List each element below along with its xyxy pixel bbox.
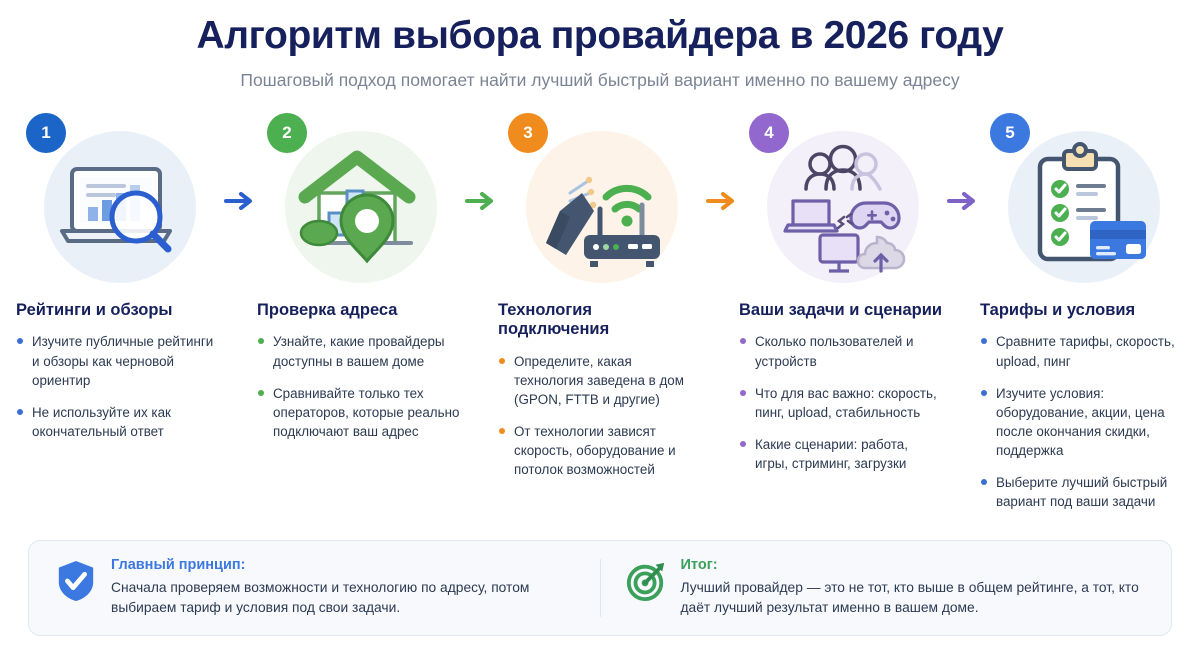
arrow-right-icon <box>947 191 977 211</box>
step-5-point: Изучите условия: оборудование, акции, це… <box>980 384 1184 460</box>
page-subtitle: Пошаговый подход помогает найти лучший б… <box>0 70 1200 91</box>
step-4-illustration: 4 <box>739 113 943 291</box>
step-3-point: От технологии зависят скорость, оборудов… <box>498 422 702 479</box>
arrow-right-icon <box>224 191 254 211</box>
step-5-number-badge: 5 <box>990 113 1030 153</box>
step-4-title: Ваши задачи и сценарии <box>739 301 943 321</box>
step-4-point: Какие сценарии: работа, игры, стриминг, … <box>739 435 943 473</box>
arrow-step-2-to-3 <box>461 113 498 211</box>
step-1-point: Изучите публичные рейтинги и обзоры как … <box>16 332 220 389</box>
step-4-point: Что для вас важно: скорость, пинг, uploa… <box>739 384 943 422</box>
step-card-2: 2 Проверка адреса Узнайте, какие провайд… <box>257 113 461 454</box>
step-5-point: Выберите лучший быстрый вариант под ваши… <box>980 473 1184 511</box>
arrow-step-1-to-2 <box>220 113 257 211</box>
footer-divider <box>600 559 601 617</box>
step-5-title: Тарифы и условия <box>980 301 1184 321</box>
step-2-illustration: 2 <box>257 113 461 291</box>
step-4-number-badge: 4 <box>749 113 789 153</box>
step-2-title: Проверка адреса <box>257 301 461 321</box>
step-5-point: Сравните тарифы, скорость, upload, пинг <box>980 332 1184 370</box>
step-2-point: Сравнивайте только тех операторов, котор… <box>257 384 461 441</box>
step-2-points: Узнайте, какие провайдеры доступны в ваш… <box>257 332 461 440</box>
step-4-points: Сколько пользователей и устройств Что дл… <box>739 332 943 472</box>
principle-text: Сначала проверяем возможности и технолог… <box>111 578 576 619</box>
page-title: Алгоритм выбора провайдера в 2026 году <box>0 14 1200 58</box>
step-3-title: Технология подключения <box>498 301 702 341</box>
users-devices-icon <box>767 131 919 283</box>
summary-panel: Главный принцип: Сначала проверяем возмо… <box>28 540 1172 636</box>
house-map-pin-icon <box>285 131 437 283</box>
result-block: Итог: Лучший провайдер — это не тот, кто… <box>619 557 1152 619</box>
step-1-illustration: 1 <box>16 113 220 291</box>
fiber-cable-router-wifi-icon <box>526 131 678 283</box>
step-3-illustration: 3 <box>498 113 702 291</box>
laptop-chart-magnifier-icon <box>44 131 196 283</box>
step-1-number-badge: 1 <box>26 113 66 153</box>
step-1-title: Рейтинги и обзоры <box>16 301 220 321</box>
step-5-illustration: 5 <box>980 113 1184 291</box>
header: Алгоритм выбора провайдера в 2026 году П… <box>0 0 1200 91</box>
infographic-page: Алгоритм выбора провайдера в 2026 году П… <box>0 0 1200 658</box>
arrow-step-4-to-5 <box>943 113 980 211</box>
step-2-number-badge: 2 <box>267 113 307 153</box>
step-1-points: Изучите публичные рейтинги и обзоры как … <box>16 332 220 440</box>
principle-label: Главный принцип: <box>111 557 576 573</box>
step-3-point: Определите, какая технология заведена в … <box>498 352 702 409</box>
arrow-right-icon <box>465 191 495 211</box>
step-2-point: Узнайте, какие провайдеры доступны в ваш… <box>257 332 461 370</box>
steps-row: 1 Рейтинги и обзоры Изучите публи <box>0 91 1200 524</box>
step-4-point: Сколько пользователей и устройств <box>739 332 943 370</box>
step-5-points: Сравните тарифы, скорость, upload, пинг … <box>980 332 1184 510</box>
arrow-step-3-to-4 <box>702 113 739 211</box>
step-card-1: 1 Рейтинги и обзоры Изучите публи <box>16 113 220 454</box>
step-1-point: Не используйте их как окончательный отве… <box>16 403 220 441</box>
step-card-4: 4 <box>739 113 943 486</box>
result-text: Лучший провайдер — это не тот, кто выше … <box>681 578 1146 619</box>
principle-block: Главный принцип: Сначала проверяем возмо… <box>49 557 582 619</box>
step-card-5: 5 <box>980 113 1184 524</box>
arrow-right-icon <box>706 191 736 211</box>
shield-check-icon <box>55 559 97 603</box>
target-arrow-icon <box>625 559 667 603</box>
result-label: Итог: <box>681 557 1146 573</box>
step-3-number-badge: 3 <box>508 113 548 153</box>
step-card-3: 3 <box>498 113 702 493</box>
clipboard-checklist-card-icon <box>1008 131 1160 283</box>
step-3-points: Определите, какая технология заведена в … <box>498 352 702 479</box>
